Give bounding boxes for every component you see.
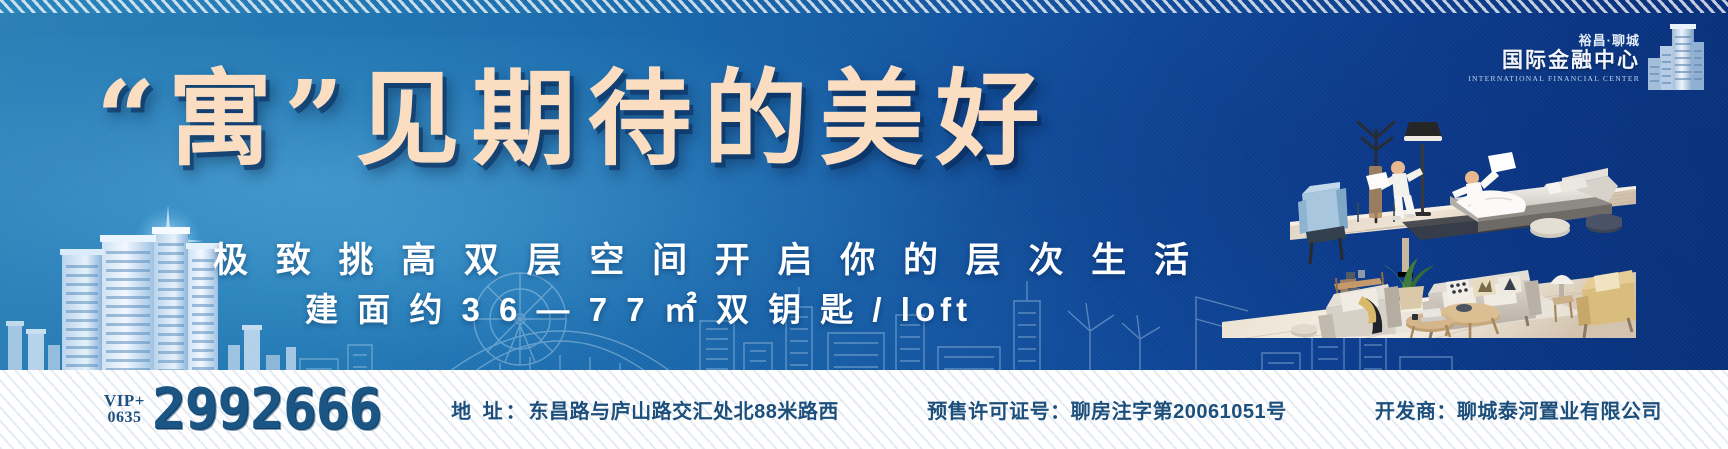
- headline: “寓”见期待的美好: [96, 62, 1052, 176]
- footer-developer-label: 开发商：: [1375, 401, 1457, 423]
- footer-license-value: 聊房注字第20061051号: [1071, 401, 1287, 423]
- footer-developer: 开发商：聊城泰河置业有限公司: [1375, 395, 1662, 424]
- footer-license-label: 预售许可证号：: [927, 401, 1071, 423]
- armchair-left: [1318, 284, 1402, 338]
- vip-label-top: VIP+: [104, 392, 145, 410]
- footer-developer-value: 聊城泰河置业有限公司: [1457, 401, 1662, 423]
- footer-info-list: 地 址：东昌路与庐山路交汇处北88米路西 预售许可证号：聊房注字第2006105…: [381, 395, 1706, 424]
- footer-address-value: 东昌路与庐山路交汇处北88米路西: [529, 401, 839, 423]
- logo-line-1: 裕昌·聊城: [1468, 34, 1640, 47]
- vip-label-bottom: 0635: [104, 410, 145, 427]
- living-room-scene: [1222, 258, 1636, 338]
- footer-address: 地 址：东昌路与庐山路交汇处北88米路西: [451, 395, 839, 424]
- footer-address-label: 地 址：: [451, 401, 529, 423]
- top-stripe-decoration: [0, 0, 1728, 13]
- blue-armchair: [1298, 182, 1348, 264]
- vip-label: VIP+ 0635: [104, 392, 145, 427]
- phone-block: VIP+ 0635 2992666: [104, 383, 381, 436]
- logo-line-2: 国际金融中心: [1468, 50, 1640, 71]
- project-logo: 裕昌·聊城 国际金融中心 INTERNATIONAL FINANCIAL CEN…: [1524, 24, 1710, 104]
- skyscraper-icon: [1644, 24, 1706, 90]
- subtitle-line-1: 极 致 挑 高 双 层 空 间 开 启 你 的 层 次 生 活: [213, 232, 1198, 283]
- footer-bar: VIP+ 0635 2992666 地 址：东昌路与庐山路交汇处北88米路西 预…: [0, 370, 1728, 449]
- advertisement-banner: 裕昌·聊城 国际金融中心 INTERNATIONAL FINANCIAL CEN…: [0, 0, 1728, 449]
- subtitle-line-2: 建 面 约 3 6 — 7 7 ㎡ 双 钥 匙 / loft: [305, 283, 972, 331]
- phone-number[interactable]: 2992666: [152, 383, 381, 436]
- bedroom-scene: [1290, 122, 1636, 277]
- logo-line-3: INTERNATIONAL FINANCIAL CENTER: [1468, 75, 1640, 83]
- footer-license: 预售许可证号：聊房注字第20061051号: [927, 395, 1286, 424]
